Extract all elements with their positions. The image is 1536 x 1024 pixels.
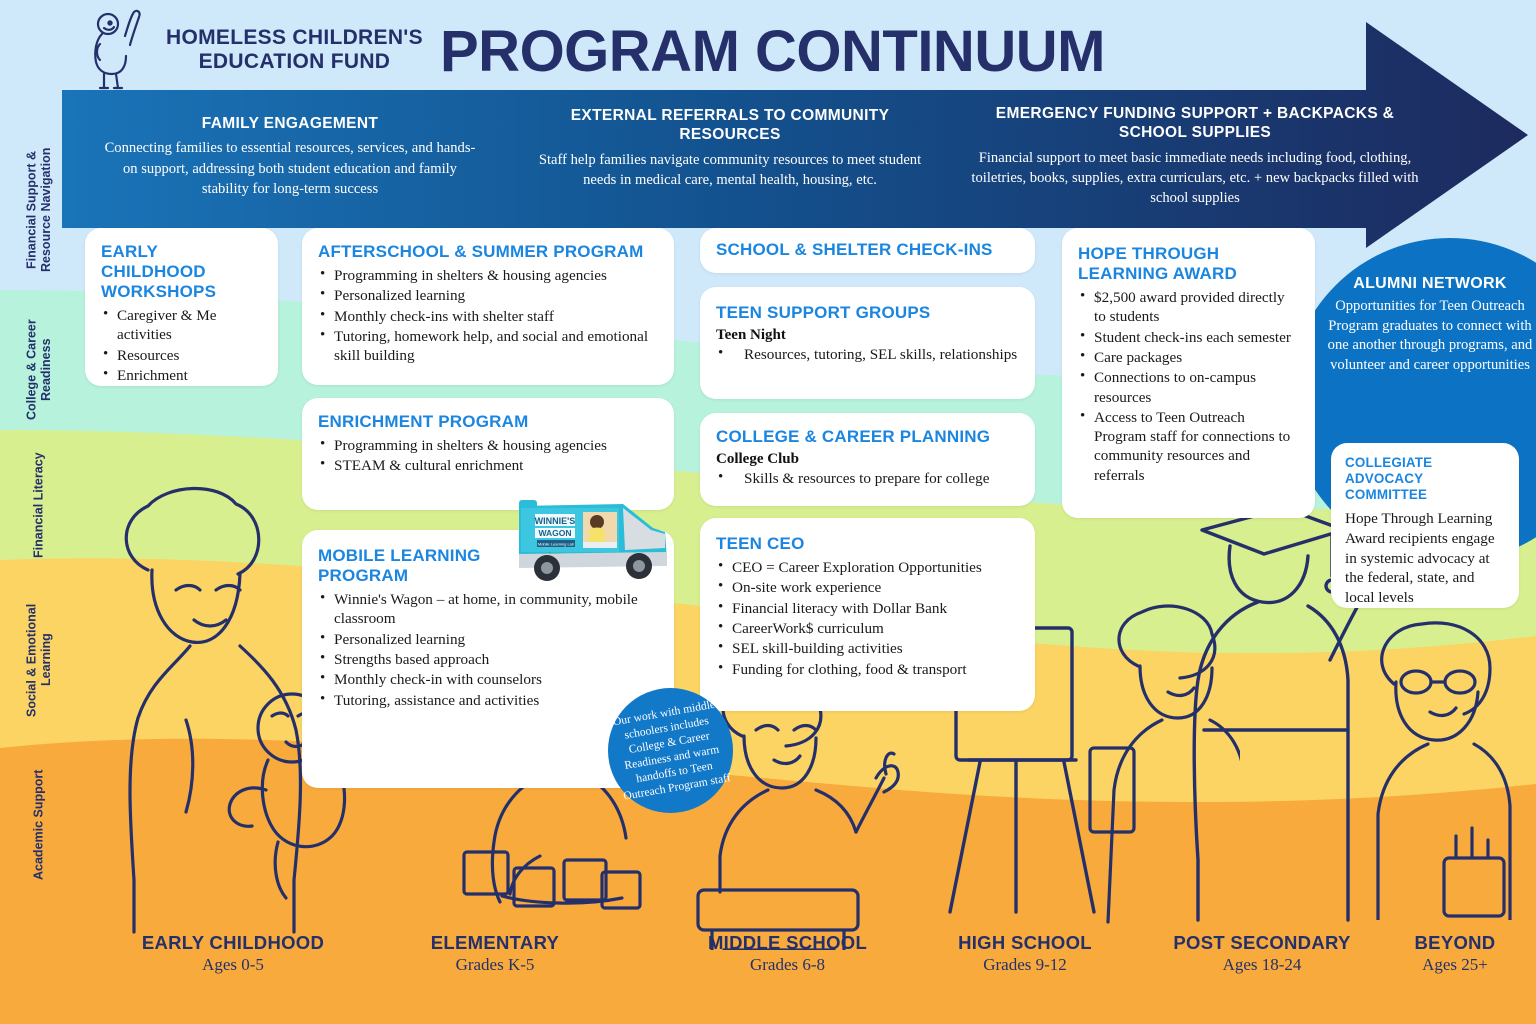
list-item: Monthly check-ins with shelter staff bbox=[318, 307, 658, 326]
brand-logo: HOMELESS CHILDREN'S EDUCATION FUND bbox=[88, 8, 423, 92]
banner-body: Staff help families navigate community r… bbox=[530, 150, 930, 190]
alumni-title: ALUMNI NETWORK bbox=[1322, 275, 1536, 293]
stage-title: POST SECONDARY bbox=[1142, 932, 1382, 954]
stage-sub: Ages 0-5 bbox=[88, 955, 378, 975]
list-item: Resources, tutoring, SEL skills, relatio… bbox=[716, 345, 1019, 364]
list-item: Winnie's Wagon – at home, in community, … bbox=[318, 590, 658, 629]
stage-high-school: HIGH SCHOOL Grades 9-12 bbox=[915, 932, 1135, 975]
list-item: Resources bbox=[101, 346, 262, 365]
stage-title: HIGH SCHOOL bbox=[915, 932, 1135, 954]
card-bullet-list: Caregiver & Me activities Resources Enri… bbox=[101, 306, 262, 385]
list-item: Access to Teen Outreach Program staff fo… bbox=[1078, 408, 1299, 485]
list-item: Student check-ins each semester bbox=[1078, 328, 1299, 347]
card-title: HOPE THROUGH LEARNING AWARD bbox=[1078, 244, 1238, 284]
banner-heading: EXTERNAL REFERRALS TO COMMUNITY RESOURCE… bbox=[530, 106, 930, 145]
list-item: Skills & resources to prepare for colleg… bbox=[716, 469, 1019, 488]
card-collegiate-advocacy-committee[interactable]: COLLEGIATE ADVOCACY COMMITTEE Hope Throu… bbox=[1331, 443, 1519, 608]
stage-sub: Ages 18-24 bbox=[1142, 955, 1382, 975]
alumni-network-callout[interactable]: ALUMNI NETWORK Opportunities for Teen Ou… bbox=[1322, 275, 1536, 460]
stage-title: EARLY CHILDHOOD bbox=[88, 932, 378, 954]
list-item: SEL skill-building activities bbox=[716, 639, 1019, 658]
stage-elementary: ELEMENTARY Grades K-5 bbox=[370, 932, 620, 975]
infographic-canvas: HOMELESS CHILDREN'S EDUCATION FUND PROGR… bbox=[0, 0, 1536, 1024]
list-item: CareerWork$ curriculum bbox=[716, 619, 1019, 638]
brand-logo-text: HOMELESS CHILDREN'S EDUCATION FUND bbox=[166, 26, 423, 73]
stage-sub: Ages 25+ bbox=[1385, 955, 1525, 975]
list-item: Financial literacy with Dollar Bank bbox=[716, 599, 1019, 618]
brand-logo-line2: EDUCATION FUND bbox=[166, 50, 423, 74]
card-teen-ceo[interactable]: TEEN CEO CEO = Career Exploration Opport… bbox=[700, 518, 1035, 711]
card-title: COLLEGE & CAREER PLANNING bbox=[716, 427, 1019, 447]
rail-label: Social & Emotional Learning bbox=[24, 580, 54, 740]
card-bullet-list: Programming in shelters & housing agenci… bbox=[318, 266, 658, 365]
winnies-wagon-van-image: WINNIE'S WAGON Mobile Learning Lab learn… bbox=[505, 498, 675, 590]
list-item: Care packages bbox=[1078, 348, 1299, 367]
banner-column-external-referrals: EXTERNAL REFERRALS TO COMMUNITY RESOURCE… bbox=[530, 106, 930, 190]
list-item: Connections to on-campus resources bbox=[1078, 368, 1299, 407]
banner-body: Financial support to meet basic immediat… bbox=[970, 148, 1420, 208]
svg-text:Mobile Learning Lab: Mobile Learning Lab bbox=[538, 542, 575, 547]
stage-early-childhood: EARLY CHILDHOOD Ages 0-5 bbox=[88, 932, 378, 975]
rail-social-emotional-learning: Social & Emotional Learning bbox=[0, 580, 78, 740]
card-title: TEEN CEO bbox=[716, 534, 1019, 554]
card-title: TEEN SUPPORT GROUPS bbox=[716, 303, 1019, 323]
list-item: Personalized learning bbox=[318, 286, 658, 305]
banner-heading: EMERGENCY FUNDING SUPPORT + BACKPACKS & … bbox=[970, 104, 1420, 143]
stage-beyond: BEYOND Ages 25+ bbox=[1385, 932, 1525, 975]
list-item: Programming in shelters & housing agenci… bbox=[318, 266, 658, 285]
list-item: Monthly check-in with counselors bbox=[318, 670, 658, 689]
list-item: Tutoring, assistance and activities bbox=[318, 691, 658, 710]
list-item: Caregiver & Me activities bbox=[101, 306, 262, 345]
card-subhead: Teen Night bbox=[716, 327, 1019, 344]
card-title: ENRICHMENT PROGRAM bbox=[318, 412, 658, 432]
card-title: COLLEGIATE ADVOCACY COMMITTEE bbox=[1345, 455, 1505, 503]
stage-post-secondary: POST SECONDARY Ages 18-24 bbox=[1142, 932, 1382, 975]
svg-text:WAGON: WAGON bbox=[538, 528, 571, 538]
list-item: STEAM & cultural enrichment bbox=[318, 456, 658, 475]
card-college-career-planning[interactable]: COLLEGE & CAREER PLANNING College Club S… bbox=[700, 413, 1035, 506]
rail-label: Academic Support bbox=[32, 770, 47, 880]
card-bullet-list: Skills & resources to prepare for colleg… bbox=[716, 469, 1019, 488]
card-school-shelter-check-ins[interactable]: SCHOOL & SHELTER CHECK-INS bbox=[700, 228, 1035, 273]
list-item: On-site work experience bbox=[716, 578, 1019, 597]
card-bullet-list: CEO = Career Exploration Opportunities O… bbox=[716, 558, 1019, 679]
card-subhead: College Club bbox=[716, 451, 1019, 468]
rail-college-career-readiness: College & Career Readiness bbox=[0, 300, 78, 440]
alumni-body: Opportunities for Teen Outreach Program … bbox=[1322, 297, 1536, 376]
list-item: Programming in shelters & housing agenci… bbox=[318, 436, 658, 455]
list-item: Strengths based approach bbox=[318, 650, 658, 669]
stage-sub: Grades 9-12 bbox=[915, 955, 1135, 975]
rail-academic-support: Academic Support bbox=[0, 765, 78, 885]
stage-middle-school: MIDDLE SCHOOL Grades 6-8 bbox=[655, 932, 920, 975]
banner-column-family-engagement: FAMILY ENGAGEMENT Connecting families to… bbox=[100, 114, 480, 199]
card-title: EARLY CHILDHOOD WORKSHOPS bbox=[101, 242, 262, 302]
card-bullet-list: $2,500 award provided directly to studen… bbox=[1078, 288, 1299, 485]
svg-text:WINNIE'S: WINNIE'S bbox=[535, 516, 576, 526]
stage-title: ELEMENTARY bbox=[370, 932, 620, 954]
card-bullet-list: Winnie's Wagon – at home, in community, … bbox=[318, 590, 658, 710]
rail-label: Financial Literacy bbox=[32, 452, 47, 558]
page-title: PROGRAM CONTINUUM bbox=[440, 18, 1105, 85]
card-title: AFTERSCHOOL & SUMMER PROGRAM bbox=[318, 242, 658, 262]
banner-heading: FAMILY ENGAGEMENT bbox=[100, 114, 480, 133]
list-item: Personalized learning bbox=[318, 630, 658, 649]
rail-label: College & Career Readiness bbox=[24, 300, 54, 440]
rail-label: Financial Support & Resource Navigation bbox=[24, 130, 54, 290]
stage-title: MIDDLE SCHOOL bbox=[655, 932, 920, 954]
child-raising-hand-icon bbox=[88, 8, 152, 92]
stage-sub: Grades 6-8 bbox=[655, 955, 920, 975]
banner-column-emergency-funding: EMERGENCY FUNDING SUPPORT + BACKPACKS & … bbox=[970, 104, 1420, 208]
rail-financial-support: Financial Support & Resource Navigation bbox=[0, 130, 78, 290]
card-teen-support-groups[interactable]: TEEN SUPPORT GROUPS Teen Night Resources… bbox=[700, 287, 1035, 399]
card-early-childhood-workshops[interactable]: EARLY CHILDHOOD WORKSHOPS Caregiver & Me… bbox=[85, 228, 278, 386]
stage-sub: Grades K-5 bbox=[370, 955, 620, 975]
illustration-teacher-with-glasses bbox=[1360, 620, 1530, 920]
card-body: Hope Through Learning Award recipients e… bbox=[1345, 509, 1505, 608]
card-bullet-list: Resources, tutoring, SEL skills, relatio… bbox=[716, 345, 1019, 364]
list-item: $2,500 award provided directly to studen… bbox=[1078, 288, 1299, 327]
card-title: SCHOOL & SHELTER CHECK-INS bbox=[716, 240, 1019, 260]
card-bullet-list: Programming in shelters & housing agenci… bbox=[318, 436, 658, 476]
brand-logo-line1: HOMELESS CHILDREN'S bbox=[166, 26, 423, 50]
rail-financial-literacy: Financial Literacy bbox=[0, 450, 78, 560]
list-item: CEO = Career Exploration Opportunities bbox=[716, 558, 1019, 577]
card-hope-through-learning-award[interactable]: HOPE THROUGH LEARNING AWARD $2,500 award… bbox=[1062, 228, 1315, 518]
note-text: Our work with middle schoolers includes … bbox=[601, 695, 740, 806]
list-item: Tutoring, homework help, and social and … bbox=[318, 327, 658, 366]
list-item: Enrichment bbox=[101, 366, 262, 385]
card-enrichment-program[interactable]: ENRICHMENT PROGRAM Programming in shelte… bbox=[302, 398, 674, 510]
banner-body: Connecting families to essential resourc… bbox=[100, 138, 480, 198]
middle-school-handoff-note: Our work with middle schoolers includes … bbox=[608, 688, 733, 813]
stage-title: BEYOND bbox=[1385, 932, 1525, 954]
list-item: Funding for clothing, food & transport bbox=[716, 660, 1019, 679]
card-afterschool-summer-program[interactable]: AFTERSCHOOL & SUMMER PROGRAM Programming… bbox=[302, 228, 674, 385]
